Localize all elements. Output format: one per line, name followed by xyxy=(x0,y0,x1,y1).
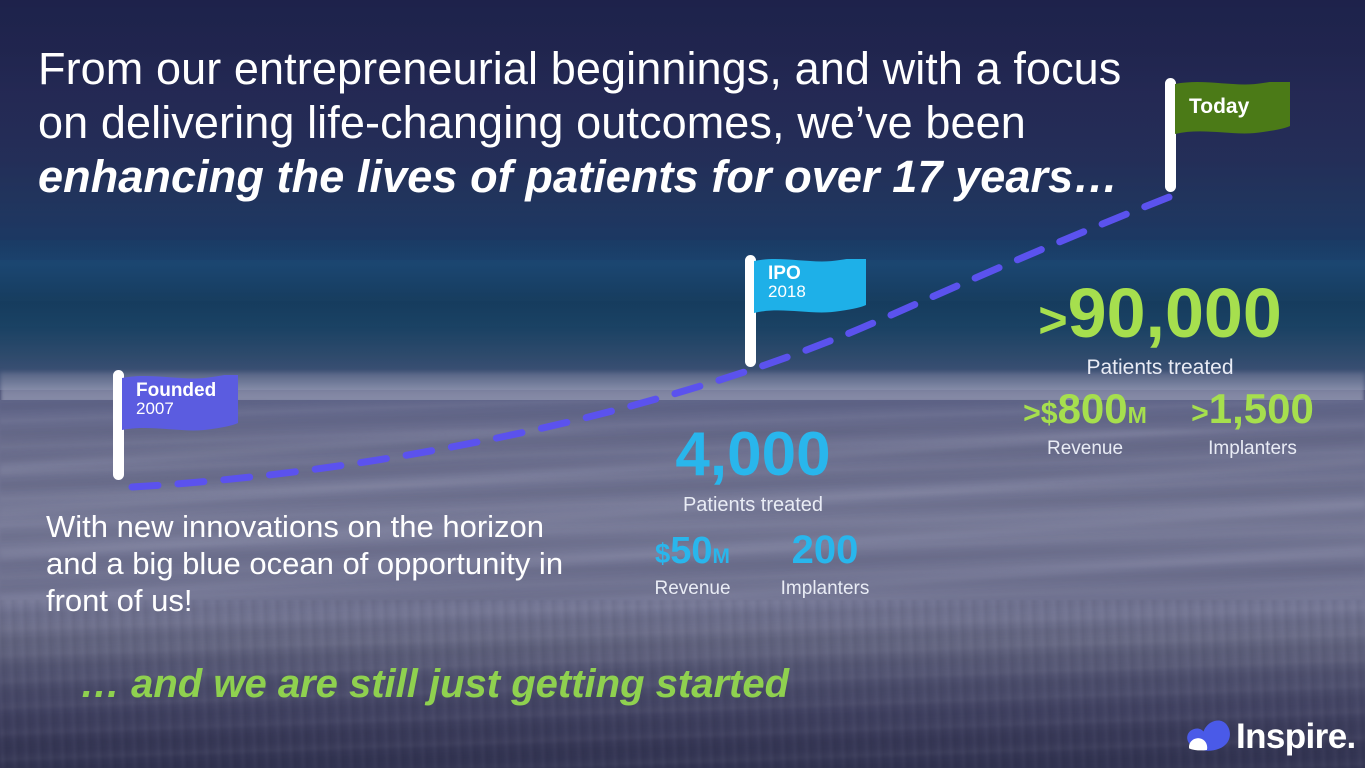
stat-caption-ipo-revenue: Revenue xyxy=(620,579,765,598)
stat-today-revenue: >$800M Revenue xyxy=(985,388,1185,458)
stat-caption-today-patients: Patients treated xyxy=(1020,357,1300,378)
stat-number: 4,000 xyxy=(675,420,830,489)
stat-number: 90,000 xyxy=(1068,274,1282,352)
headline-plain-lead: From our entrepreneurial beginnings, and… xyxy=(38,43,1121,148)
presentation-slide: From our entrepreneurial beginnings, and… xyxy=(0,0,1365,768)
inspire-logo: Inspire. xyxy=(1186,718,1356,754)
stat-value-ipo-patients: 4,000 xyxy=(625,424,881,486)
stat-prefix: > xyxy=(1191,397,1209,430)
flag-title-founded: Founded xyxy=(136,381,216,400)
stat-ipo-revenue: $50M Revenue xyxy=(620,532,765,598)
stat-value-ipo-revenue: $50M xyxy=(620,532,765,570)
stat-today-implanters: >1,500 Implanters xyxy=(1165,388,1340,458)
flag-title-today: Today xyxy=(1189,96,1249,117)
flag-cloth-ipo: IPO 2018 xyxy=(754,259,866,317)
stat-suffix: M xyxy=(1128,402,1147,428)
stat-number: 200 xyxy=(792,528,859,572)
slide-headline: From our entrepreneurial beginnings, and… xyxy=(38,42,1128,204)
closing-tagline: … and we are still just getting started xyxy=(80,662,789,707)
stat-number: 50 xyxy=(670,530,712,572)
flag-title-ipo: IPO xyxy=(768,264,806,283)
headline-ellipsis: … xyxy=(1073,151,1118,202)
stat-value-today-revenue: >$800M xyxy=(985,388,1185,430)
headline-emphasis: enhancing the lives of patients for over… xyxy=(38,151,1073,202)
stat-prefix: > xyxy=(1038,291,1067,348)
stat-prefix: >$ xyxy=(1023,397,1057,430)
flag-label-founded: Founded 2007 xyxy=(136,381,216,418)
stat-value-today-patients: >90,000 xyxy=(1020,278,1300,348)
stat-number: 800 xyxy=(1058,385,1128,432)
stat-prefix: $ xyxy=(655,538,670,569)
stat-suffix: M xyxy=(713,545,730,568)
stat-value-ipo-implanters: 200 xyxy=(752,530,898,570)
stat-ipo-patients: 4,000 Patients treated xyxy=(625,424,881,515)
body-paragraph: With new innovations on the horizon and … xyxy=(46,508,586,619)
flag-cloth-today: Today xyxy=(1175,82,1290,138)
stat-ipo-implanters: 200 Implanters xyxy=(752,530,898,598)
stat-caption-ipo-patients: Patients treated xyxy=(625,495,881,515)
stat-caption-today-implanters: Implanters xyxy=(1165,439,1340,458)
flag-label-today: Today xyxy=(1189,96,1249,117)
flag-year-founded: 2007 xyxy=(136,400,216,417)
flag-cloth-founded: Founded 2007 xyxy=(122,375,238,435)
flag-year-ipo: 2018 xyxy=(768,283,806,300)
stat-value-today-implanters: >1,500 xyxy=(1165,388,1340,430)
stat-number: 1,500 xyxy=(1209,385,1314,432)
stat-today-patients: >90,000 Patients treated xyxy=(1020,278,1300,378)
stat-caption-ipo-implanters: Implanters xyxy=(752,579,898,598)
inspire-cloud-icon xyxy=(1186,718,1232,754)
flag-label-ipo: IPO 2018 xyxy=(768,264,806,301)
inspire-wordmark: Inspire. xyxy=(1236,719,1356,754)
stat-caption-today-revenue: Revenue xyxy=(985,439,1185,458)
